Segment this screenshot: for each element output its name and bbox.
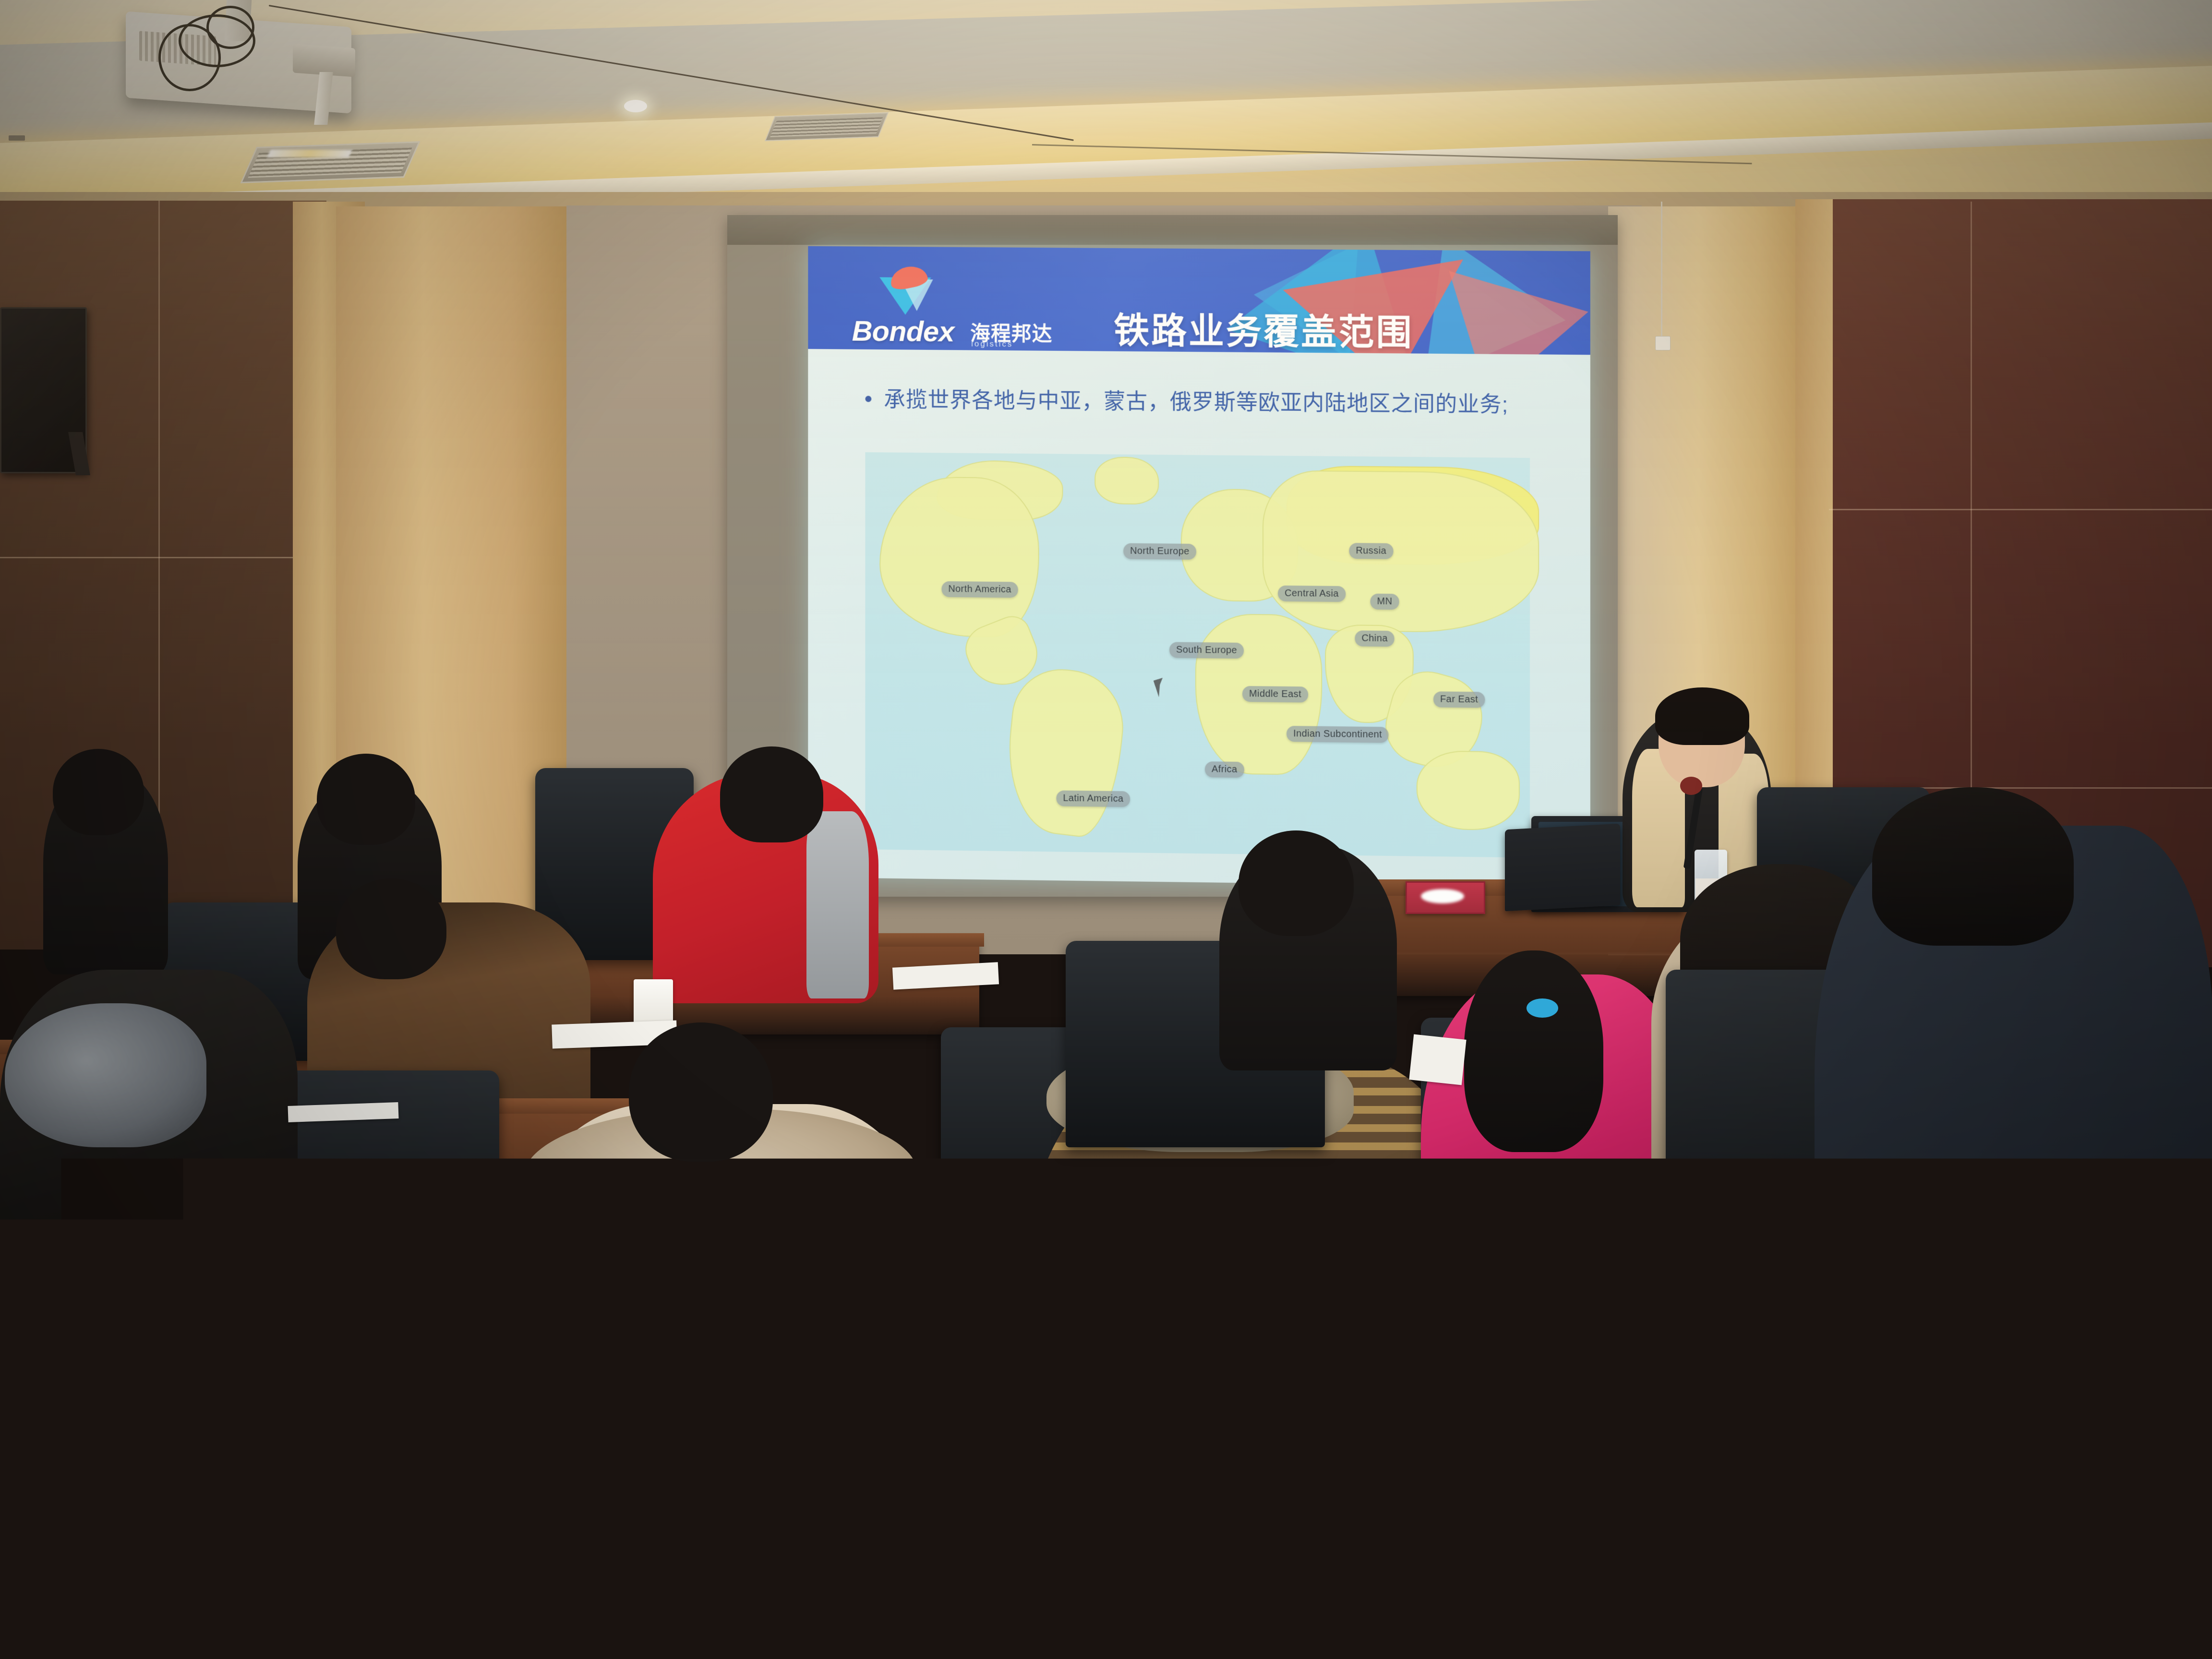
speaker-brand-mark bbox=[9, 135, 25, 141]
map-label: Middle East bbox=[1242, 686, 1308, 703]
slide-title-banner: Bondex 海程邦达 logistics 铁路业务覆盖范围 bbox=[808, 246, 1590, 355]
presenter-hair bbox=[1655, 687, 1749, 745]
attendee-brown-fur-collar-head bbox=[336, 878, 446, 979]
map-label: North America bbox=[942, 581, 1018, 598]
slide-title: 铁路业务覆盖范围 bbox=[1114, 302, 1414, 355]
grey-fur-trim bbox=[5, 1003, 206, 1147]
brand-name-en: Bondex bbox=[852, 314, 954, 348]
mouse-pointer-icon bbox=[1154, 678, 1168, 697]
attendee-dark-coat-c-head bbox=[1238, 830, 1354, 936]
attendee-pink-jacket-hair bbox=[1464, 950, 1603, 1152]
attendee-red-jacket-head bbox=[720, 746, 823, 842]
hair-tie-icon bbox=[1527, 998, 1558, 1018]
attendee-dark-coat-b-head bbox=[317, 754, 415, 845]
attendee-cream-coat-head bbox=[629, 1022, 773, 1162]
ceiling-downlight bbox=[624, 100, 647, 112]
map-label-group: North EuropeNorth AmericaRussiaCentral A… bbox=[865, 452, 1530, 458]
air-vent-icon bbox=[765, 112, 889, 141]
slide-bullet-text: 承揽世界各地与中亚，蒙古，俄罗斯等欧亚内陆地区之间的业务; bbox=[884, 385, 1508, 420]
wall-seam bbox=[1829, 509, 2212, 510]
landmass-greenland bbox=[1094, 457, 1159, 505]
presentation-slide[interactable]: Bondex 海程邦达 logistics 铁路业务覆盖范围 承揽世界各地与中亚… bbox=[808, 246, 1590, 888]
map-label: Latin America bbox=[1056, 791, 1130, 807]
bullet-dot-icon bbox=[865, 396, 871, 402]
attendee-dark-coat-a-head bbox=[53, 749, 144, 835]
landmass-australia bbox=[1417, 750, 1520, 830]
map-label: Far East bbox=[1433, 691, 1485, 708]
front-row-laptop[interactable] bbox=[1505, 824, 1620, 912]
map-label: China bbox=[1355, 630, 1395, 647]
landmass-asia bbox=[1262, 470, 1539, 633]
map-label: South Europe bbox=[1169, 642, 1244, 659]
projection-screen-top-bar bbox=[727, 215, 1618, 245]
bondex-logo-icon bbox=[878, 267, 931, 314]
wall-seam bbox=[0, 557, 326, 558]
landmass-south-america bbox=[1000, 664, 1129, 841]
map-label: Russia bbox=[1349, 543, 1393, 559]
chair-center-front[interactable] bbox=[586, 1229, 950, 1659]
air-vent-left-icon bbox=[240, 141, 420, 183]
projector-cable-loop-3 bbox=[206, 6, 254, 49]
air-vent-glint bbox=[267, 150, 352, 157]
wall-wire bbox=[1661, 202, 1662, 338]
attendee-navy-jacket-head bbox=[1872, 787, 2074, 946]
paper-held-1 bbox=[1409, 1034, 1466, 1085]
microphone-head-icon bbox=[1680, 777, 1702, 795]
map-label: Central Asia bbox=[1278, 586, 1346, 602]
map-label: Africa bbox=[1205, 761, 1244, 778]
attendee-red-jacket-sleeve bbox=[806, 811, 869, 998]
map-label: North Europe bbox=[1123, 543, 1196, 560]
world-map: North EuropeNorth AmericaRussiaCentral A… bbox=[865, 452, 1530, 857]
wall-switch-icon[interactable] bbox=[1655, 336, 1671, 350]
paper-on-desk-4 bbox=[1538, 1262, 1688, 1368]
map-label: Indian Subcontinent bbox=[1286, 726, 1389, 743]
map-label: MN bbox=[1370, 594, 1399, 610]
brand-subtitle: logistics bbox=[971, 339, 1013, 349]
attendee-grey-coat-front-head bbox=[29, 1219, 163, 1344]
landmass-north-america bbox=[879, 476, 1039, 637]
slide-bullet-row: 承揽世界各地与中亚，蒙古，俄罗斯等欧亚内陆地区之间的业务; bbox=[865, 385, 1547, 420]
nameplate-glare bbox=[1421, 889, 1464, 903]
conference-room-scene: Bondex 海程邦达 logistics 铁路业务覆盖范围 承揽世界各地与中亚… bbox=[0, 0, 2212, 1659]
